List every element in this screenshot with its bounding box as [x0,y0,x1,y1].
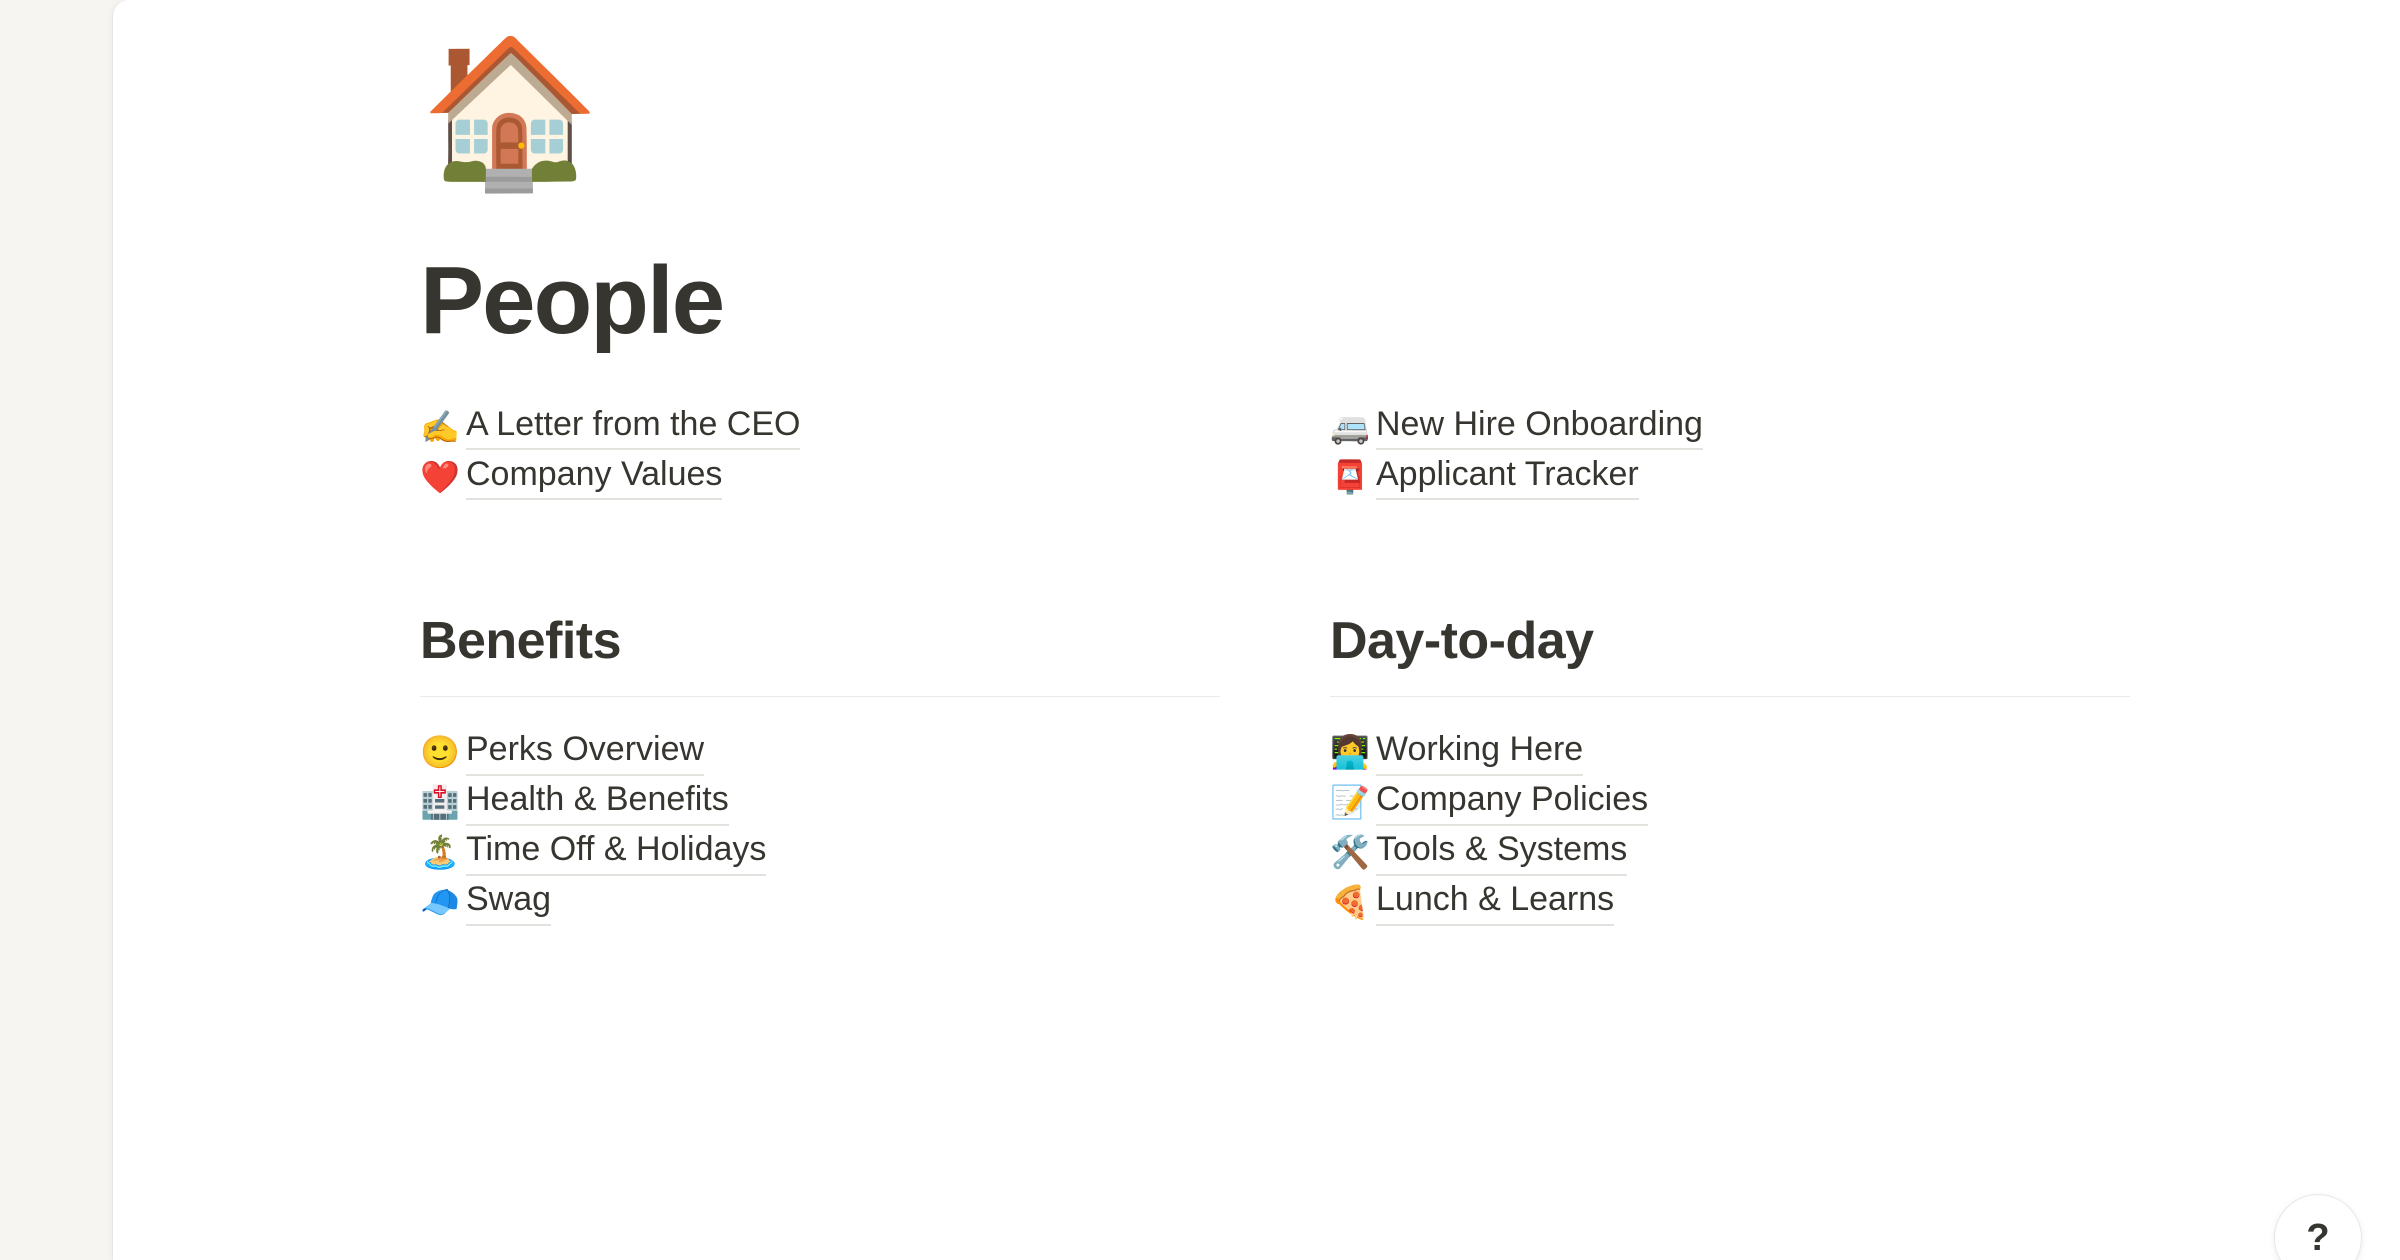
app-root: 🏠 People ✍️ A Letter from the CEO ❤️ [0,0,2400,1260]
link-row-tools-and-systems[interactable]: 🛠️ Tools & Systems [1330,827,2130,877]
link-label[interactable]: A Letter from the CEO [466,403,800,451]
link-label[interactable]: Tools & Systems [1376,828,1627,876]
link-row-time-off-and-holidays[interactable]: 🏝️ Time Off & Holidays [420,827,1220,877]
link-label[interactable]: Health & Benefits [466,778,729,826]
link-label[interactable]: Swag [466,878,551,926]
link-row-company-values[interactable]: ❤️ Company Values [420,452,1220,502]
section-benefits-list: 🙂 Perks Overview 🏥 Health & Benefits 🏝️ [420,727,1220,927]
section-spacer [420,502,2220,566]
link-row-health-and-benefits[interactable]: 🏥 Health & Benefits [420,777,1220,827]
section-day-to-day: Day-to-day 👩‍💻 Working Here 📝 Company Po… [1330,610,2130,927]
link-row-working-here[interactable]: 👩‍💻 Working Here [1330,727,2130,777]
postbox-icon: 📮 [1330,461,1376,493]
help-button[interactable]: ? [2274,1194,2362,1260]
top-links-left-list: ✍️ A Letter from the CEO ❤️ Company Valu… [420,402,1220,502]
link-row-lunch-and-learns[interactable]: 🍕 Lunch & Learns [1330,877,2130,927]
section-benefits-title: Benefits [420,610,1220,672]
hospital-icon: 🏥 [420,786,466,818]
link-label[interactable]: Time Off & Holidays [466,828,766,876]
link-row-new-hire-onboarding[interactable]: 🚐 New Hire Onboarding [1330,402,2130,452]
billed-cap-icon: 🧢 [420,886,466,918]
top-links-left-column: ✍️ A Letter from the CEO ❤️ Company Valu… [420,402,1220,502]
memo-icon: 📝 [1330,786,1376,818]
section-benefits-block: Benefits 🙂 Perks Overview 🏥 Health & Ben… [420,610,1220,927]
link-label[interactable]: Lunch & Learns [1376,878,1614,926]
woman-technologist-icon: 👩‍💻 [1330,736,1376,768]
section-day-to-day-block: Day-to-day 👩‍💻 Working Here 📝 Company Po… [1330,610,2130,927]
page-scroll-area[interactable]: 🏠 People ✍️ A Letter from the CEO ❤️ [113,0,2400,1260]
house-emoji[interactable]: 🏠 [420,40,2220,200]
link-label[interactable]: Working Here [1376,728,1583,776]
hammer-and-wrench-icon: 🛠️ [1330,836,1376,868]
section-day-to-day-title: Day-to-day [1330,610,2130,672]
red-heart-icon: ❤️ [420,461,466,493]
link-label[interactable]: Company Values [466,453,722,501]
page-panel: 🏠 People ✍️ A Letter from the CEO ❤️ [113,0,2400,1260]
link-label[interactable]: Company Policies [1376,778,1648,826]
link-row-swag[interactable]: 🧢 Swag [420,877,1220,927]
section-benefits: Benefits 🙂 Perks Overview 🏥 Health & Ben… [420,610,1220,927]
desert-island-icon: 🏝️ [420,836,466,868]
top-links-right-column: 🚐 New Hire Onboarding 📮 Applicant Tracke… [1330,402,2130,502]
section-day-to-day-divider [1330,696,2130,697]
section-columns: Benefits 🙂 Perks Overview 🏥 Health & Ben… [420,610,2220,927]
slightly-smiling-face-icon: 🙂 [420,736,466,768]
link-label[interactable]: New Hire Onboarding [1376,403,1703,451]
minibus-icon: 🚐 [1330,411,1376,443]
section-benefits-divider [420,696,1220,697]
top-link-columns: ✍️ A Letter from the CEO ❤️ Company Valu… [420,402,2220,502]
link-label[interactable]: Perks Overview [466,728,704,776]
link-row-perks-overview[interactable]: 🙂 Perks Overview [420,727,1220,777]
section-day-to-day-list: 👩‍💻 Working Here 📝 Company Policies 🛠️ [1330,727,2130,927]
link-label[interactable]: Applicant Tracker [1376,453,1639,501]
page-title: People [420,200,2220,358]
top-links-right-list: 🚐 New Hire Onboarding 📮 Applicant Tracke… [1330,402,2130,502]
writing-hand-icon: ✍️ [420,411,466,443]
link-row-applicant-tracker[interactable]: 📮 Applicant Tracker [1330,452,2130,502]
sidebar-collapsed-strip[interactable] [0,0,116,1260]
link-row-letter-from-ceo[interactable]: ✍️ A Letter from the CEO [420,402,1220,452]
page-content: 🏠 People ✍️ A Letter from the CEO ❤️ [420,0,2220,927]
pizza-icon: 🍕 [1330,886,1376,918]
link-row-company-policies[interactable]: 📝 Company Policies [1330,777,2130,827]
